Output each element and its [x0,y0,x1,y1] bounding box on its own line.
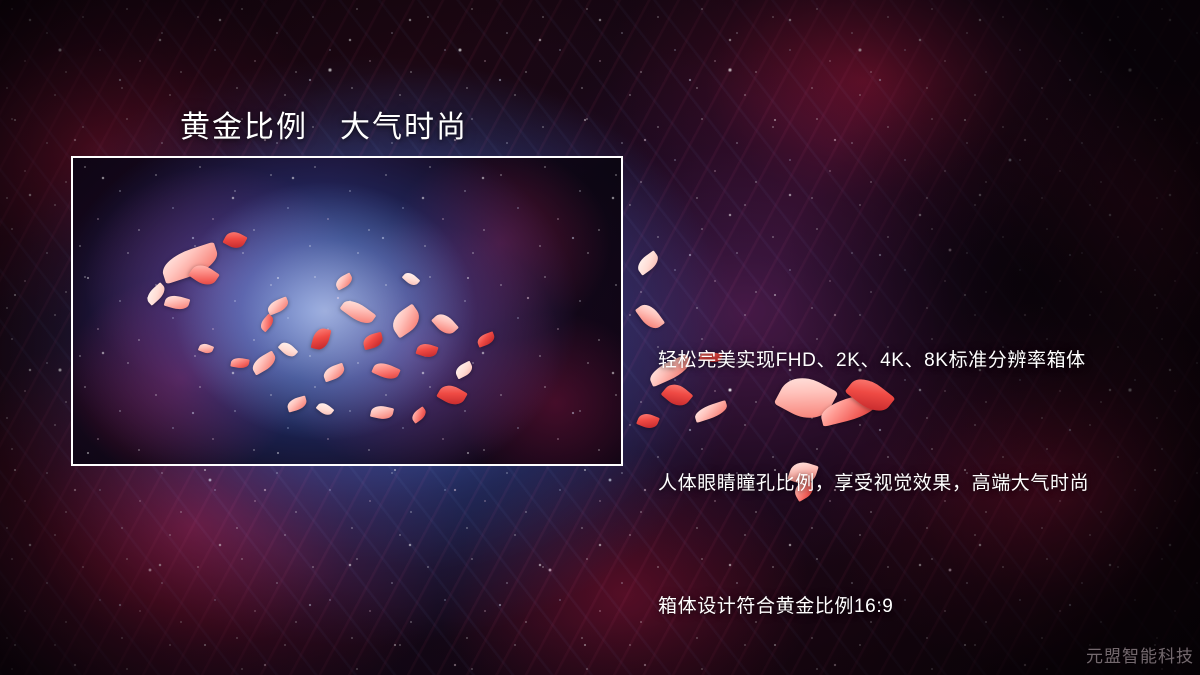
watermark: 元盟智能科技 [1086,642,1194,667]
framed-image [71,156,623,466]
page-title: 黄金比例 大气时尚 [180,102,468,146]
body-line-1: 轻松完美实现FHD、2K、4K、8K标准分辨率箱体 [658,340,1089,381]
slide-canvas: 黄金比例 大气时尚 轻松完美实现FHD、2K、4K、8K标准分辨率箱体 人体眼睛… [0,0,1200,675]
body-text-block: 轻松完美实现FHD、2K、4K、8K标准分辨率箱体 人体眼睛瞳孔比例，享受视觉效… [658,258,1089,675]
framed-image-nebula [73,158,621,464]
body-line-3: 箱体设计符合黄金比例16:9 [658,586,1089,627]
body-line-2: 人体眼睛瞳孔比例，享受视觉效果，高端大气时尚 [658,463,1089,504]
